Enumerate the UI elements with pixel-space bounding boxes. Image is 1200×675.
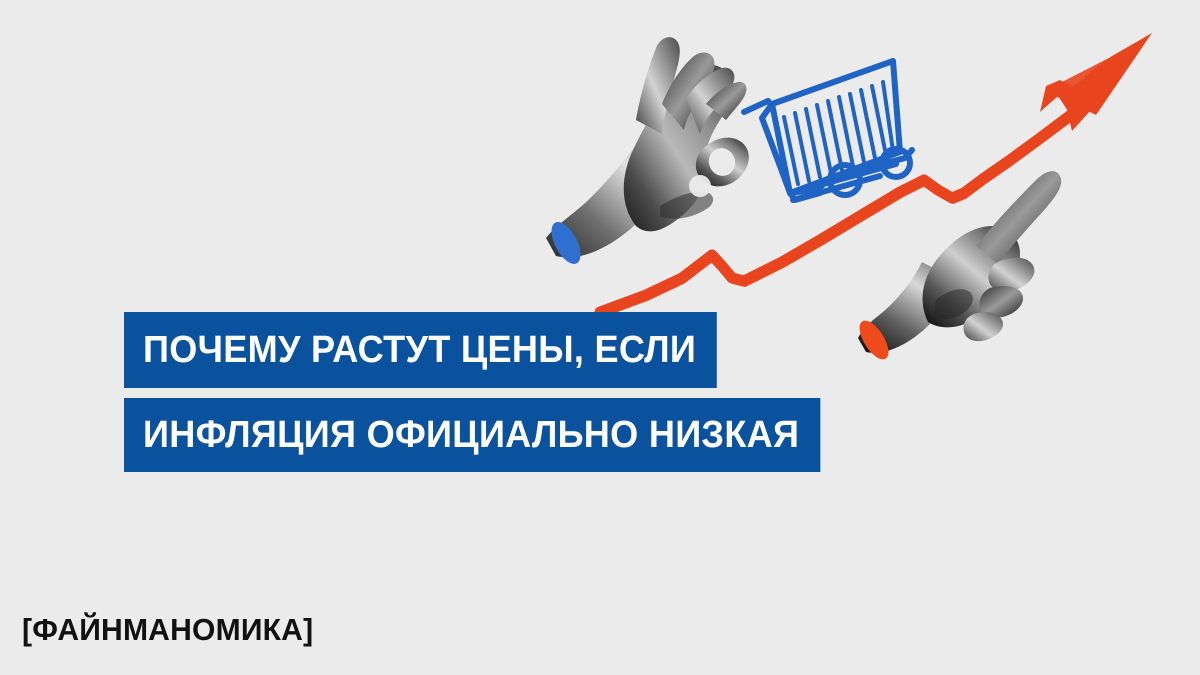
shopping-cart-icon	[744, 61, 912, 200]
headline-line-1: ПОЧЕМУ РАСТУТ ЦЕНЫ, ЕСЛИ	[124, 312, 717, 388]
headline: ПОЧЕМУ РАСТУТ ЦЕНЫ, ЕСЛИ ИНФЛЯЦИЯ ОФИЦИА…	[124, 312, 857, 472]
poster-canvas: ПОЧЕМУ РАСТУТ ЦЕНЫ, ЕСЛИ ИНФЛЯЦИЯ ОФИЦИА…	[0, 0, 1200, 675]
left-wrist-cuff	[545, 218, 586, 269]
right-wrist-cuff	[854, 316, 894, 364]
pointing-hand-icon	[854, 171, 1061, 364]
brand-wordmark: [ФАЙНМАНОМИКА]	[22, 612, 313, 648]
headline-line-2: ИНФЛЯЦИЯ ОФИЦИАЛЬНО НИЗКАЯ	[124, 398, 820, 472]
growth-arrow-icon	[599, 33, 1152, 315]
ok-hand-icon	[545, 37, 748, 268]
